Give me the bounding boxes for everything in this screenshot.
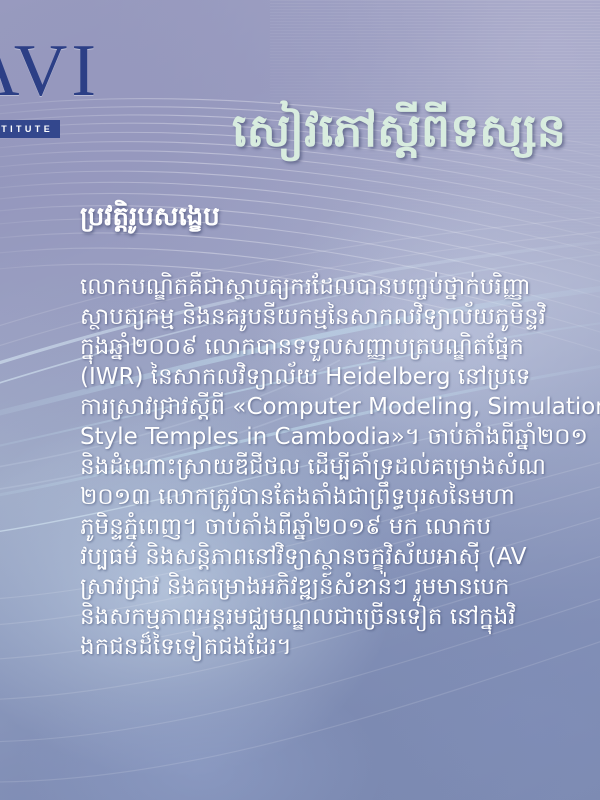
body-line: ភូមិន្ទភ្នំពេញ។ ចាប់តាំងពីឆ្នាំ២០១៩ មក ល…: [80, 512, 600, 542]
body-line: លោកបណ្ឌិតគឺជាស្ថាបត្យករដែលបានបញ្ចប់ថ្នាក…: [80, 272, 600, 302]
body-line: Style Temples in Cambodia»។ ចាប់តាំងពីឆ្…: [80, 422, 600, 452]
body-line: ងកជនដ៏ទៃទៀតជងដែរ។: [80, 632, 600, 662]
section-heading: ប្រវត្តិរូបសង្ខេប: [80, 200, 220, 234]
body-line: ក្នុងឆ្នាំ២០០៩ លោកបានទទួលសញ្ញាបត្របណ្ឌិត…: [80, 332, 600, 362]
slide-page: AVI INSTITUTE សៀវភៅស្តីពីទស្សន ប្រវត្តិរ…: [0, 0, 600, 800]
body-line: ស្រាវជ្រាវ និងគម្រោងអភិវឌ្ឍន៍សំខាន់ៗ រួម…: [80, 572, 600, 602]
body-line: ស្ថាបត្យកម្ម និងនគរូបនីយកម្មនៃសាកលវិទ្យា…: [80, 302, 600, 332]
body-line: វប្បធម៌ និងសន្តិភាពនៅវិទ្យាស្ថានចក្ខុវិស…: [80, 542, 600, 572]
body-line: និងសកម្មភាពអន្តរមជ្ឈមណ្ឌលជាច្រើនទៀត នៅក្…: [80, 602, 600, 632]
page-title: សៀវភៅស្តីពីទស្សន: [232, 103, 600, 157]
body-line: និងដំណោះស្រាយឌីជីថល ដើម្បីគាំទ្រដល់គម្រោ…: [80, 452, 600, 482]
content-clip-region: សៀវភៅស្តីពីទស្សន ប្រវត្តិរូបសង្ខេប លោកបណ…: [0, 0, 600, 800]
body-line: ២០១៣ លោកត្រូវបានតែងតាំងជាព្រឹទ្ធបុរសនៃមហ…: [80, 482, 600, 512]
body-line: (IWR) នៃសាកលវិទ្យាល័យ Heidelberg នៅប្រទេ: [80, 362, 600, 392]
biography-text-block: លោកបណ្ឌិតគឺជាស្ថាបត្យករដែលបានបញ្ចប់ថ្នាក…: [80, 272, 600, 662]
body-line: ការស្រាវជ្រាវស្តីពី «Computer Modeling, …: [80, 392, 600, 422]
